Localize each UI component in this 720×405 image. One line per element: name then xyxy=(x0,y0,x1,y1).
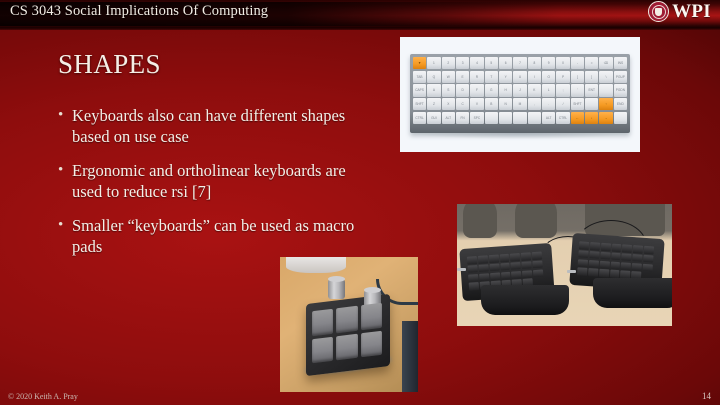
ortho-key: S xyxy=(442,84,455,96)
ergo-key xyxy=(622,244,632,252)
ortho-key xyxy=(513,112,526,124)
ortho-key: ↑ xyxy=(599,98,612,110)
ortho-key: K xyxy=(528,84,541,96)
ortho-key: CAPS xyxy=(413,84,426,96)
ortho-key: 6 xyxy=(499,57,512,69)
ortho-key: F xyxy=(470,84,483,96)
ortho-key: CTRL xyxy=(413,112,426,124)
bullet-marker-icon: • xyxy=(58,215,72,257)
ergo-key xyxy=(489,263,499,271)
course-title: CS 3043 Social Implications Of Computing xyxy=(10,3,268,20)
ortho-key: R xyxy=(470,71,483,83)
macro-pad-keys xyxy=(312,303,382,364)
ergo-key xyxy=(600,252,610,260)
wpi-seal-ring xyxy=(652,5,666,19)
ergo-key xyxy=(599,269,609,277)
bullet-text-1: Keyboards also can have different shapes… xyxy=(72,105,358,147)
ergo-key xyxy=(499,254,509,262)
ortholinear-keyboard-body: ▼1234567890-=⌫INSTABQWERTYUIOP[]\PGUPCAP… xyxy=(410,54,630,133)
ergo-right-palm-rest xyxy=(593,278,672,308)
ortho-key: INS xyxy=(614,57,627,69)
ergo-key xyxy=(611,252,621,260)
ortho-key: \ xyxy=(599,71,612,83)
ortho-key: = xyxy=(585,57,598,69)
bullet-text-2: Ergonomic and ortholinear keyboards are … xyxy=(72,160,358,202)
ergo-key xyxy=(532,252,542,260)
ergo-key xyxy=(478,255,488,263)
ergo-key xyxy=(632,254,642,262)
ortho-key: - xyxy=(571,57,584,69)
ergo-key xyxy=(633,245,643,253)
ergo-key xyxy=(478,264,488,272)
bullet-item-2: • Ergonomic and ortholinear keyboards ar… xyxy=(58,160,358,202)
ortho-key: O xyxy=(542,71,555,83)
ortho-key: ALT xyxy=(542,112,555,124)
ergo-key xyxy=(611,244,621,252)
ortho-key: 4 xyxy=(470,57,483,69)
header-underline xyxy=(0,28,720,30)
ortho-key: 8 xyxy=(528,57,541,69)
ergo-standoff xyxy=(457,268,466,271)
bullet-marker-icon: • xyxy=(58,105,72,147)
ergo-key xyxy=(599,260,609,268)
ortho-key: ' xyxy=(571,84,584,96)
ergo-key xyxy=(590,242,600,250)
ergo-key xyxy=(522,270,532,278)
ortho-key: TAB xyxy=(413,71,426,83)
ortho-key: I xyxy=(528,71,541,83)
macro-key xyxy=(312,309,333,336)
ortho-key: SHFT xyxy=(413,98,426,110)
wpi-seal-icon xyxy=(648,1,669,22)
macro-pad-image xyxy=(280,257,418,392)
ergo-key xyxy=(479,273,489,281)
ortho-key: ALT xyxy=(442,112,455,124)
footer-copyright: © 2020 Keith A. Pray xyxy=(8,392,78,401)
ergo-key xyxy=(579,241,589,249)
slide-header-bar: CS 3043 Social Implications Of Computing xyxy=(0,0,720,28)
macro-key xyxy=(336,306,357,333)
macro-key xyxy=(361,330,382,357)
ergo-key xyxy=(522,261,532,269)
slide-page-number: 14 xyxy=(702,391,711,401)
ortho-key: SPC xyxy=(470,112,483,124)
ortho-key: V xyxy=(470,98,483,110)
ergo-key xyxy=(589,251,599,259)
wpi-shield-icon xyxy=(655,8,662,16)
ortho-key: 5 xyxy=(485,57,498,69)
wpi-wordmark: WPI xyxy=(672,1,711,22)
ergo-right-keys xyxy=(577,241,654,280)
ortholinear-key-grid: ▼1234567890-=⌫INSTABQWERTYUIOP[]\PGUPCAP… xyxy=(413,57,627,124)
ortho-key: ; xyxy=(556,84,569,96)
ortholinear-keyboard-image: ▼1234567890-=⌫INSTABQWERTYUIOP[]\PGUPCAP… xyxy=(400,37,640,152)
ortho-key: H xyxy=(499,84,512,96)
ortho-key: SHFT xyxy=(571,98,584,110)
ortho-key: Y xyxy=(499,71,512,83)
ortho-key: X xyxy=(442,98,455,110)
ergo-key xyxy=(500,263,510,271)
ortho-key: FN xyxy=(456,112,469,124)
ortho-key: B xyxy=(485,98,498,110)
ortho-key: CTRL xyxy=(556,112,569,124)
ergo-key xyxy=(577,268,587,276)
ortho-key: ← xyxy=(571,112,584,124)
ortho-key: P xyxy=(556,71,569,83)
ergo-left-palm-rest xyxy=(481,285,569,315)
ergo-standoff xyxy=(567,270,576,273)
ortho-key: PGUP xyxy=(614,71,627,83)
bullet-marker-icon: • xyxy=(58,160,72,202)
ortho-key: / xyxy=(556,98,569,110)
ortho-key: M xyxy=(513,98,526,110)
ortho-key: → xyxy=(599,112,612,124)
ortho-key: 3 xyxy=(456,57,469,69)
ergo-key xyxy=(510,253,520,261)
ergo-key xyxy=(600,243,610,251)
ortho-key: 9 xyxy=(542,57,555,69)
ergo-key xyxy=(469,282,479,290)
ergo-background-object xyxy=(463,204,497,238)
ortho-key: A xyxy=(427,84,440,96)
ergo-key xyxy=(468,274,478,282)
ortho-key: C xyxy=(456,98,469,110)
ortho-key: . xyxy=(542,98,555,110)
ergo-key xyxy=(621,262,631,270)
bullet-list: • Keyboards also can have different shap… xyxy=(58,105,358,270)
ortho-key: GUI xyxy=(427,112,440,124)
ergo-key xyxy=(521,252,531,260)
ortho-key xyxy=(485,112,498,124)
ortho-key: , xyxy=(528,98,541,110)
macro-pad-knob-left xyxy=(328,279,345,299)
ortho-key: J xyxy=(513,84,526,96)
ortho-key: ] xyxy=(585,71,598,83)
ortho-key: ▼ xyxy=(413,57,426,69)
ortho-key: ⌫ xyxy=(599,57,612,69)
macro-key xyxy=(336,333,357,360)
ortho-key: L xyxy=(542,84,555,96)
ortho-key: N xyxy=(499,98,512,110)
ortho-key: ENT xyxy=(585,84,598,96)
ortho-key xyxy=(499,112,512,124)
macro-background-keyboard xyxy=(402,321,418,392)
bullet-item-3: • Smaller “keyboards” can be used as mac… xyxy=(58,215,358,257)
ortho-key: END xyxy=(614,98,627,110)
wpi-logo: WPI xyxy=(648,1,711,22)
ergo-key xyxy=(643,263,653,271)
ergo-key xyxy=(489,255,499,263)
ortho-key: Z xyxy=(427,98,440,110)
ergo-key xyxy=(644,246,654,254)
ergo-key xyxy=(511,262,521,270)
ergo-key xyxy=(467,256,477,264)
bullet-text-3: Smaller “keyboards” can be used as macro… xyxy=(72,215,358,257)
ergo-key xyxy=(490,272,500,280)
ortho-key: 0 xyxy=(556,57,569,69)
ortho-key: E xyxy=(456,71,469,83)
ortho-key: 7 xyxy=(513,57,526,69)
ergo-background-object xyxy=(515,204,557,238)
ergo-key xyxy=(622,253,632,261)
ergo-key xyxy=(533,269,543,277)
ortho-key: U xyxy=(513,71,526,83)
macro-key xyxy=(361,303,382,330)
ortho-key: W xyxy=(442,71,455,83)
bullet-item-1: • Keyboards also can have different shap… xyxy=(58,105,358,147)
macro-background-object xyxy=(286,257,346,273)
macro-key xyxy=(312,336,333,363)
ortho-key xyxy=(528,112,541,124)
ergo-key xyxy=(610,270,620,278)
ergo-key xyxy=(467,265,477,273)
ortho-key: ↓ xyxy=(585,112,598,124)
ortho-key: Q xyxy=(427,71,440,83)
ortho-key: [ xyxy=(571,71,584,83)
ergo-key xyxy=(533,260,543,268)
ortho-key: D xyxy=(456,84,469,96)
slide-canvas: CS 3043 Social Implications Of Computing… xyxy=(0,0,720,405)
ortho-key: 1 xyxy=(427,57,440,69)
ergo-key xyxy=(501,271,511,279)
ortho-key: G xyxy=(485,84,498,96)
ergo-key xyxy=(511,271,521,279)
ergonomic-keyboard-image xyxy=(457,204,672,326)
ortholinear-shadow xyxy=(412,133,628,139)
ortho-key xyxy=(585,98,598,110)
ergo-key xyxy=(643,255,653,263)
ortho-key xyxy=(599,84,612,96)
ortho-key xyxy=(614,112,627,124)
ergo-key xyxy=(610,261,620,269)
ergo-key xyxy=(588,260,598,268)
slide-title: SHAPES xyxy=(58,49,161,80)
ergo-key xyxy=(578,259,588,267)
ortho-key: PGDN xyxy=(614,84,627,96)
ergo-key xyxy=(588,268,598,276)
ergo-key xyxy=(578,250,588,258)
ortho-key: 2 xyxy=(442,57,455,69)
ergo-key xyxy=(632,263,642,271)
ortho-key: T xyxy=(485,71,498,83)
